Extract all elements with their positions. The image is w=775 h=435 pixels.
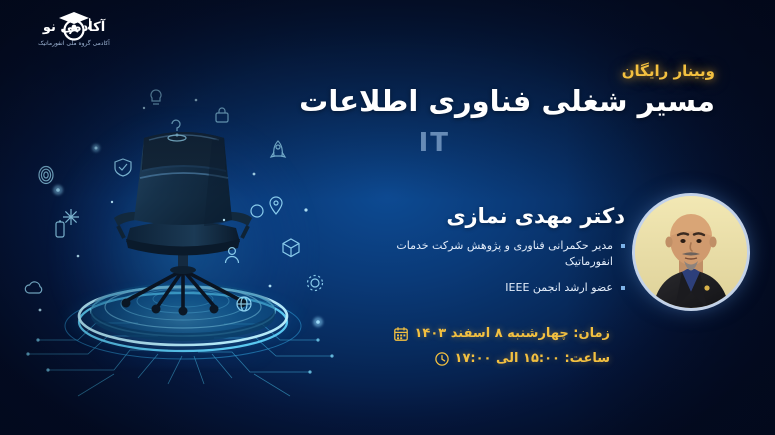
logo-wordmark: آکادمی نو (14, 20, 134, 35)
subtitle-latin: IT (419, 128, 450, 158)
event-time-text: ساعت: ۱۵:۰۰ الی ۱۷:۰۰ (455, 351, 610, 366)
kicker-free-webinar: وبینار رایگان (622, 62, 715, 80)
avatar (635, 196, 747, 308)
credential-item: عضو ارشد انجمن IEEE (363, 280, 625, 296)
speaker-credentials: مدیر حکمرانی فناوری و پژوهش شرکت خدمات ا… (363, 238, 625, 306)
event-date-row: زمان: چهارشنبه ۸ اسفند ۱۴۰۳ (394, 326, 610, 341)
event-meta: زمان: چهارشنبه ۸ اسفند ۱۴۰۳ ساعت: ۱۵:۰۰ … (394, 326, 610, 376)
clock-icon (435, 352, 449, 366)
credential-item: مدیر حکمرانی فناوری و پژوهش شرکت خدمات ا… (363, 238, 625, 270)
avatar-photo (635, 196, 747, 308)
brand-logo[interactable]: آکادمی نو آکادمی گروه ملی انفورماتیک (14, 8, 134, 54)
webinar-banner: آکادمی نو آکادمی گروه ملی انفورماتیک وبی… (0, 0, 775, 435)
event-time-row: ساعت: ۱۵:۰۰ الی ۱۷:۰۰ (394, 351, 610, 366)
logo-tagline: آکادمی گروه ملی انفورماتیک (14, 40, 134, 47)
speaker-name: دکتر مهدی نمازی (446, 204, 625, 228)
page-title: مسیر شغلی فناوری اطلاعات (299, 84, 715, 118)
calendar-icon (394, 327, 408, 341)
event-date-text: زمان: چهارشنبه ۸ اسفند ۱۴۰۳ (414, 326, 610, 341)
